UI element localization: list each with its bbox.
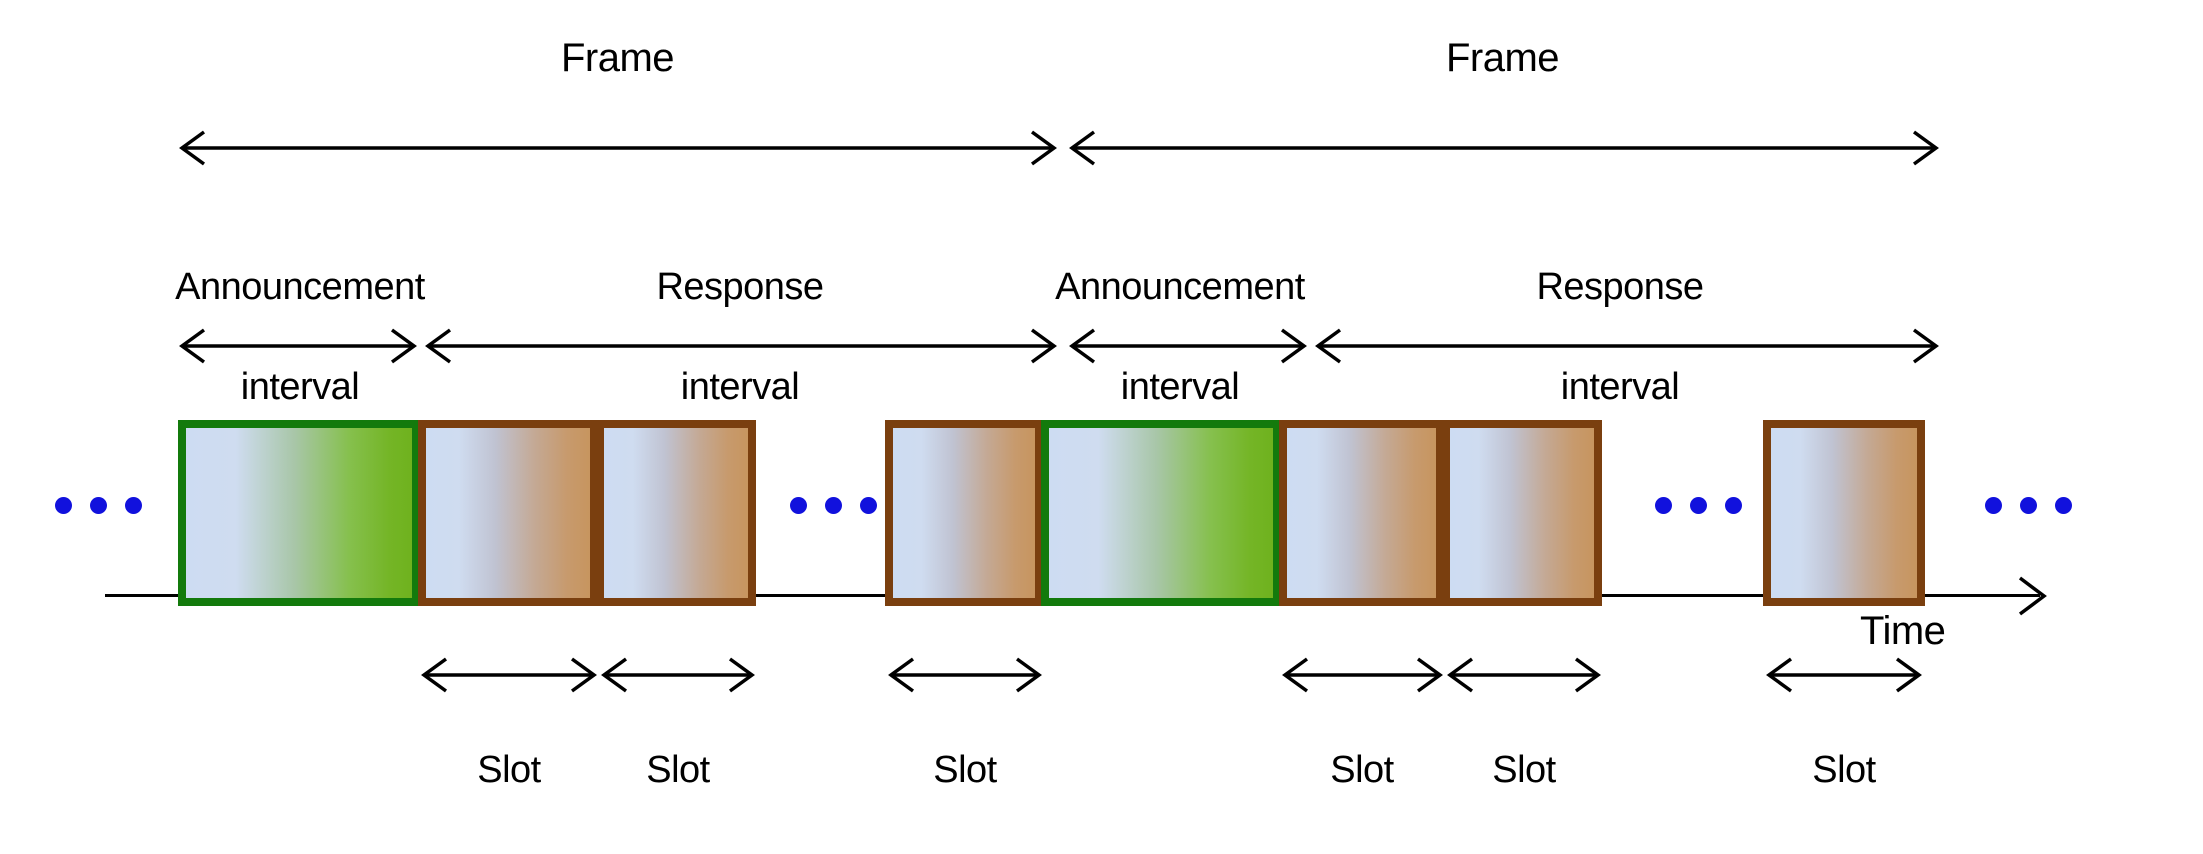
ellipsis-left xyxy=(55,497,142,514)
slot-label-line1: Slot xyxy=(646,749,709,791)
ellipsis-dot xyxy=(1985,497,2002,514)
announcement-interval-line2: interval xyxy=(241,366,360,408)
ellipsis-dot xyxy=(55,497,72,514)
slot-1-frame1[interactable] xyxy=(418,420,598,606)
ellipsis-dot xyxy=(1655,497,1672,514)
ellipsis-dot xyxy=(2020,497,2037,514)
slot-label-line1: Slot xyxy=(477,749,540,791)
ellipsis-dot xyxy=(90,497,107,514)
announcement-slot-frame2[interactable] xyxy=(1041,420,1281,606)
response-interval-arrow-frame1 xyxy=(424,324,1058,368)
response-interval-label-frame1: Response interval xyxy=(560,212,920,412)
response-interval-label-frame2: Response interval xyxy=(1440,212,1800,412)
announcement-interval-label-frame1: Announcement interval xyxy=(120,212,480,412)
ellipsis-mid-frame2 xyxy=(1655,497,1742,514)
slot-1-frame1-arrow xyxy=(420,653,598,697)
announcement-interval-arrow-frame1 xyxy=(178,324,418,368)
response-interval-line1: Response xyxy=(656,266,823,308)
slot-label-line2: L xyxy=(1834,849,1855,854)
slot-L-frame1[interactable] xyxy=(885,420,1043,606)
slot-L-frame2[interactable] xyxy=(1763,420,1925,606)
ellipsis-dot xyxy=(1690,497,1707,514)
announcement-slot-frame1[interactable] xyxy=(178,420,420,606)
slot-L-frame1-arrow xyxy=(887,653,1043,697)
slot-label-line2: 2 xyxy=(668,849,689,854)
announcement-interval-line1: Announcement xyxy=(175,266,425,308)
frame-1-span-arrow xyxy=(178,126,1058,170)
slot-2-frame2-arrow xyxy=(1446,653,1602,697)
tdma-frame-timeline-diagram: Frame Frame Announcement interval Respon… xyxy=(0,0,2203,854)
slot-label-line2: 1 xyxy=(499,849,520,854)
slot-2-frame1-arrow xyxy=(600,653,756,697)
time-axis-label: Time xyxy=(1860,608,2040,654)
response-interval-line1-2: Response xyxy=(1536,266,1703,308)
frame-1-caption: Frame xyxy=(180,35,1055,81)
announcement-interval-label-frame2: Announcement interval xyxy=(1000,212,1360,412)
slot-1-frame2-arrow xyxy=(1281,653,1444,697)
response-interval-arrow-frame2 xyxy=(1314,324,1940,368)
ellipsis-dot xyxy=(825,497,842,514)
slot-label-line1: Slot xyxy=(1812,749,1875,791)
slot-2-frame1-label: Slot 2 xyxy=(578,695,778,854)
frame-2-span-arrow xyxy=(1068,126,1940,170)
ellipsis-dot xyxy=(1725,497,1742,514)
ellipsis-dot xyxy=(2055,497,2072,514)
slot-label-line2: 2 xyxy=(1514,849,1535,854)
slot-L-frame2-label: Slot L xyxy=(1744,695,1944,854)
slot-L-frame2-arrow xyxy=(1765,653,1923,697)
slot-label-line2: 1 xyxy=(1352,849,1373,854)
ellipsis-right xyxy=(1985,497,2072,514)
announcement-interval-line2-2: interval xyxy=(1121,366,1240,408)
ellipsis-mid-frame1 xyxy=(790,497,877,514)
slot-label-line1: Slot xyxy=(1330,749,1393,791)
frame-2-caption: Frame xyxy=(1070,35,1935,81)
response-interval-line2: interval xyxy=(681,366,800,408)
slot-1-frame2[interactable] xyxy=(1279,420,1444,606)
slot-label-line1: Slot xyxy=(1492,749,1555,791)
ellipsis-dot xyxy=(125,497,142,514)
slot-label-line1: Slot xyxy=(933,749,996,791)
slot-L-frame1-label: Slot L xyxy=(865,695,1065,854)
slot-2-frame2[interactable] xyxy=(1442,420,1602,606)
slot-2-frame2-label: Slot 2 xyxy=(1424,695,1624,854)
slot-2-frame1[interactable] xyxy=(596,420,756,606)
announcement-interval-line1-2: Announcement xyxy=(1055,266,1305,308)
ellipsis-dot xyxy=(790,497,807,514)
ellipsis-dot xyxy=(860,497,877,514)
slot-label-line2: L xyxy=(955,849,976,854)
announcement-interval-arrow-frame2 xyxy=(1068,324,1308,368)
response-interval-line2-2: interval xyxy=(1561,366,1680,408)
